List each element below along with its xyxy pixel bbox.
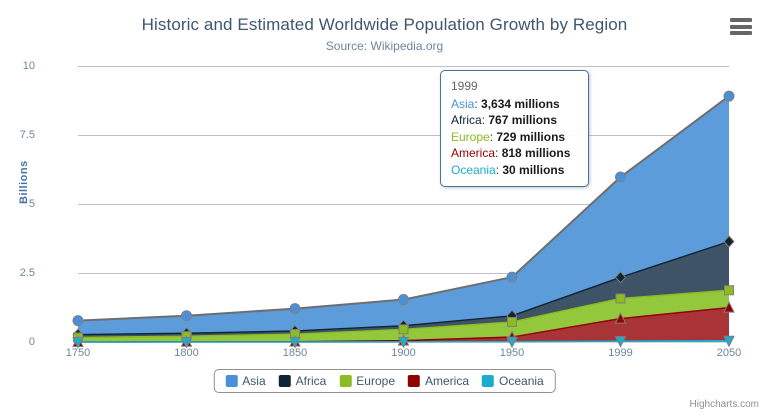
tooltip-row: Africa: 767 millions bbox=[451, 112, 579, 129]
legend-label: Asia bbox=[242, 374, 265, 388]
tooltip: 1999 Asia: 3,634 millionsAfrica: 767 mil… bbox=[440, 70, 589, 187]
tooltip-rows: Asia: 3,634 millionsAfrica: 767 millions… bbox=[451, 96, 579, 179]
legend-item-europe[interactable]: Europe bbox=[339, 374, 395, 388]
tooltip-series-value: 30 millions bbox=[502, 163, 564, 177]
data-point-asia-1800[interactable] bbox=[182, 311, 192, 321]
data-point-asia-2050[interactable] bbox=[724, 91, 734, 101]
highcharts-container: Historic and Estimated Worldwide Populat… bbox=[0, 0, 769, 416]
legend-swatch-icon bbox=[225, 375, 237, 387]
tooltip-series-value: 767 millions bbox=[488, 113, 557, 127]
tooltip-row: Europe: 729 millions bbox=[451, 129, 579, 146]
data-point-asia-1999[interactable] bbox=[616, 172, 626, 182]
legend-item-africa[interactable]: Africa bbox=[279, 374, 327, 388]
legend-item-asia[interactable]: Asia bbox=[225, 374, 265, 388]
tooltip-series-name: America bbox=[451, 146, 495, 160]
data-point-europe-2050[interactable] bbox=[725, 286, 734, 295]
legend-swatch-icon bbox=[482, 375, 494, 387]
legend-label: Africa bbox=[296, 374, 327, 388]
tooltip-row: Oceania: 30 millions bbox=[451, 162, 579, 179]
tooltip-header: 1999 bbox=[451, 78, 579, 95]
data-point-asia-1950[interactable] bbox=[507, 272, 517, 282]
legend-label: Oceania bbox=[499, 374, 544, 388]
legend-label: America bbox=[425, 374, 469, 388]
legend-label: Europe bbox=[356, 374, 395, 388]
data-point-europe-1900[interactable] bbox=[399, 325, 408, 334]
tooltip-row: America: 818 millions bbox=[451, 145, 579, 162]
tooltip-series-name: Asia bbox=[451, 97, 474, 111]
legend[interactable]: AsiaAfricaEuropeAmericaOceania bbox=[213, 369, 555, 393]
credits-label: Highcharts.com bbox=[690, 399, 759, 410]
legend-swatch-icon bbox=[408, 375, 420, 387]
tooltip-series-value: 729 millions bbox=[496, 130, 565, 144]
tooltip-separator: : bbox=[474, 97, 481, 111]
tooltip-series-value: 3,634 millions bbox=[481, 97, 560, 111]
tooltip-series-name: Africa bbox=[451, 113, 482, 127]
legend-swatch-icon bbox=[339, 375, 351, 387]
data-point-asia-1850[interactable] bbox=[290, 304, 300, 314]
data-point-europe-1950[interactable] bbox=[508, 317, 517, 326]
legend-item-america[interactable]: America bbox=[408, 374, 469, 388]
tooltip-series-name: Oceania bbox=[451, 163, 496, 177]
tooltip-series-name: Europe bbox=[451, 130, 490, 144]
series-layer bbox=[0, 0, 769, 416]
legend-swatch-icon bbox=[279, 375, 291, 387]
legend-item-oceania[interactable]: Oceania bbox=[482, 374, 544, 388]
tooltip-separator: : bbox=[495, 146, 502, 160]
data-point-asia-1900[interactable] bbox=[399, 295, 409, 305]
tooltip-row: Asia: 3,634 millions bbox=[451, 96, 579, 113]
tooltip-series-value: 818 millions bbox=[502, 146, 571, 160]
data-point-europe-1999[interactable] bbox=[616, 294, 625, 303]
data-point-asia-1750[interactable] bbox=[73, 316, 83, 326]
